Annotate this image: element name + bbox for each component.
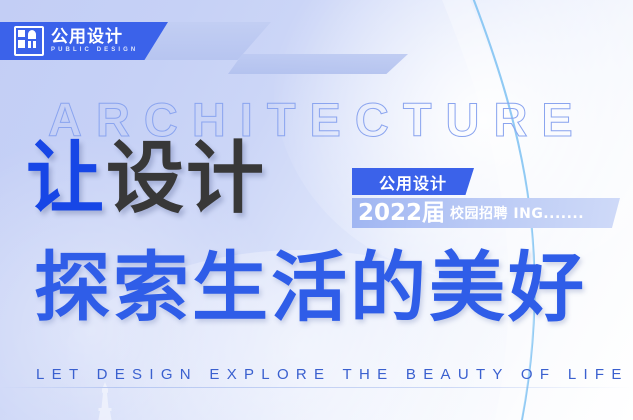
headline-accent-char: 让 <box>26 140 106 218</box>
brand-logo-bar[interactable]: 公用设计 PUBLIC DESIGN <box>0 22 168 60</box>
decor-ribbon-lower <box>228 54 408 74</box>
badge-title-banner: 公用设计 <box>352 168 474 195</box>
headline-dark-chars: 设计 <box>106 140 266 218</box>
recruitment-badge: 公用设计 2022届 校园招聘 ING....... <box>352 168 620 228</box>
headline-line-1: 让 设计 <box>26 140 266 218</box>
recruitment-poster: 公用设计 PUBLIC DESIGN ARCHITECTURE 让 设计 公用设… <box>0 0 633 420</box>
brand-logo-text: 公用设计 PUBLIC DESIGN <box>51 28 138 55</box>
badge-detail-banner: 2022届 校园招聘 ING....... <box>352 198 620 228</box>
badge-title: 公用设计 <box>379 170 447 194</box>
badge-year: 2022届 <box>358 201 445 225</box>
brand-name-cn: 公用设计 <box>51 28 138 46</box>
brand-name-en: PUBLIC DESIGN <box>51 46 138 55</box>
tagline: LET DESIGN EXPLORE THE BEAUTY OF LIFE <box>36 366 629 383</box>
badge-subtitle: 校园招聘 ING....... <box>450 203 584 223</box>
headline-line-2: 探索生活的美好 <box>34 248 587 328</box>
seal-emblem-icon <box>14 26 44 56</box>
